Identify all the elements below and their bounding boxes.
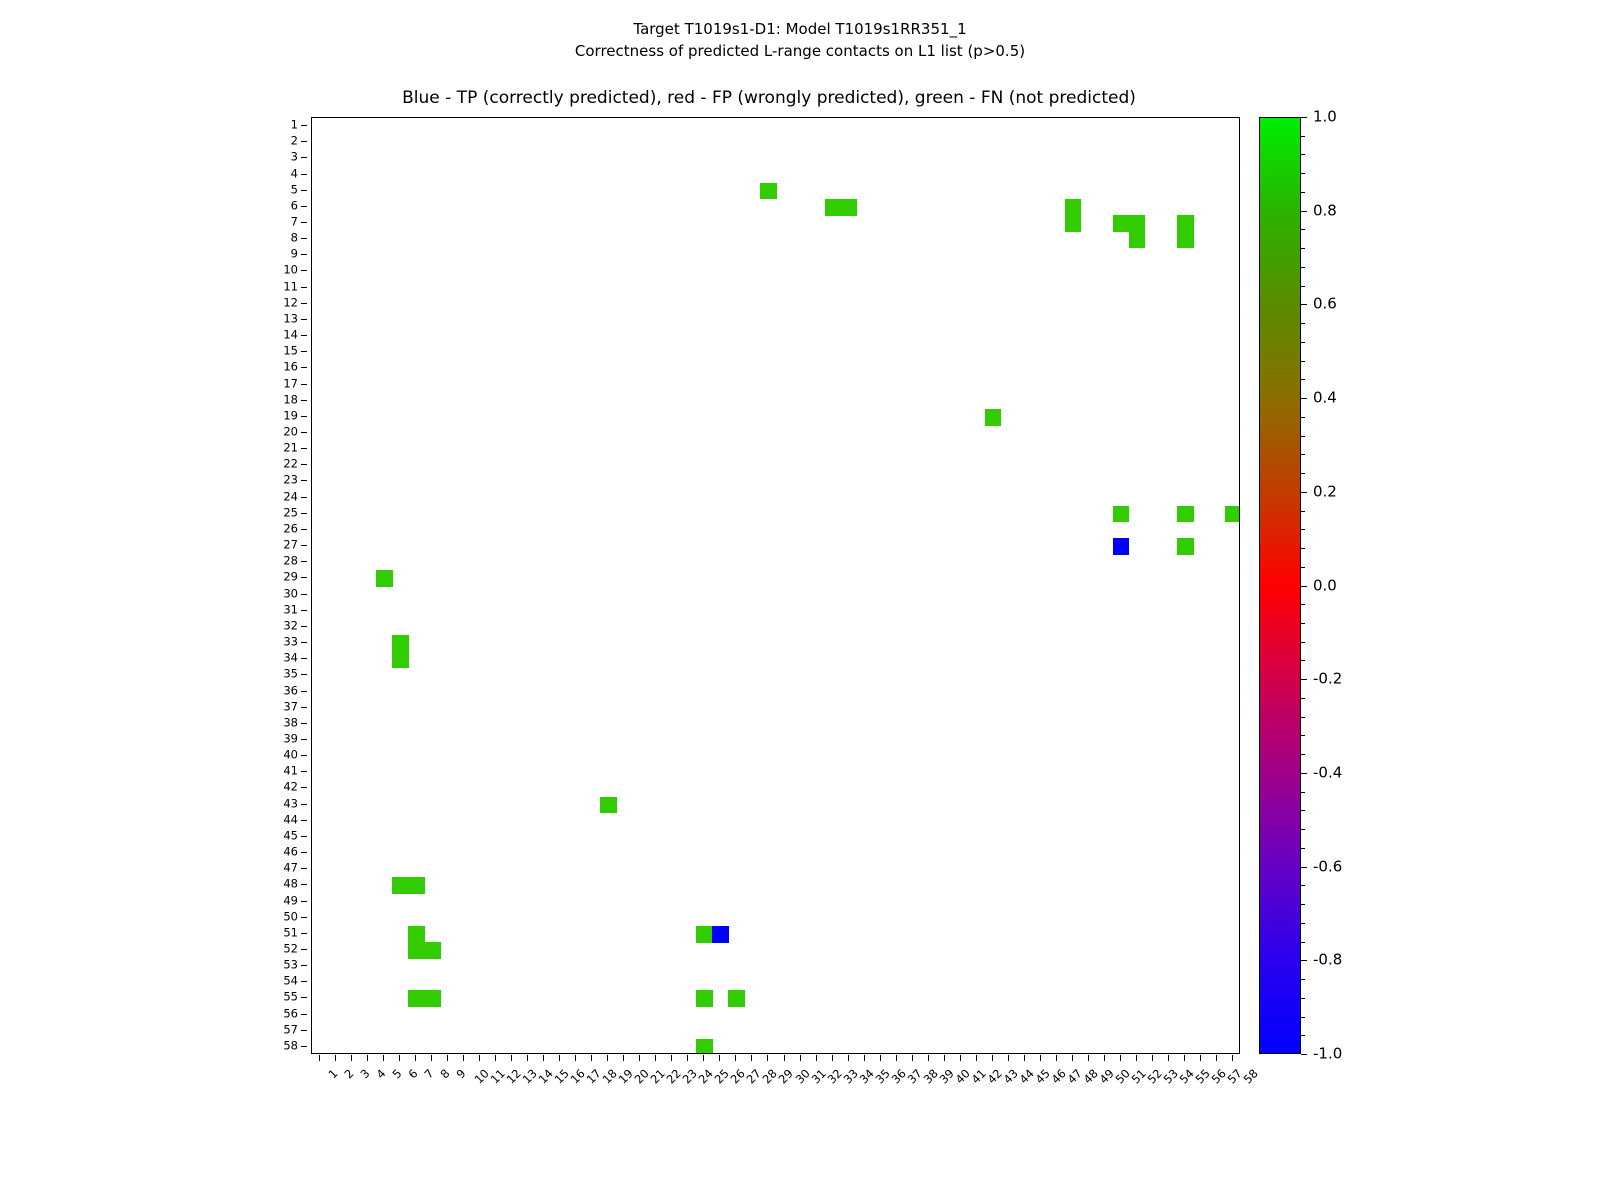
y-tick-mark <box>301 610 307 611</box>
x-tick-mark <box>944 1055 945 1061</box>
heatmap-cell <box>1177 538 1194 555</box>
colorbar: 1.00.80.60.40.20.0-0.2-0.4-0.6-0.8-1.0 <box>1259 117 1301 1054</box>
title-line-2: Correctness of predicted L-range contact… <box>0 40 1600 62</box>
x-tick-mark <box>351 1055 352 1061</box>
x-tick-mark <box>832 1055 833 1061</box>
y-tick-label: 38 <box>283 717 298 729</box>
y-tick-label: 27 <box>283 539 298 551</box>
x-tick-mark <box>335 1055 336 1061</box>
colorbar-minor-tick <box>1301 754 1305 755</box>
y-tick-mark <box>301 1030 307 1031</box>
contact-map-figure: Target T1019s1-D1: Model T1019s1RR351_1 … <box>0 0 1600 1200</box>
x-tick-mark <box>463 1055 464 1061</box>
colorbar-tick-label: 0.4 <box>1313 391 1337 406</box>
plot-area <box>311 117 1240 1054</box>
heatmap-cell <box>1129 215 1146 232</box>
y-tick-label: 14 <box>283 329 298 341</box>
x-tick-mark <box>1056 1055 1057 1061</box>
colorbar-minor-tick <box>1301 979 1305 980</box>
x-tick-mark <box>912 1055 913 1061</box>
x-tick-label: 2 <box>342 1067 356 1081</box>
x-tick-mark <box>848 1055 849 1061</box>
colorbar-tick-mark <box>1301 586 1307 587</box>
y-tick-label: 3 <box>291 152 298 164</box>
colorbar-gradient <box>1259 117 1301 1054</box>
y-tick-label: 13 <box>283 313 298 325</box>
y-tick-mark <box>301 545 307 546</box>
colorbar-tick-label: 0.6 <box>1313 297 1337 312</box>
colorbar-minor-tick <box>1301 511 1305 512</box>
y-tick-label: 45 <box>283 830 298 842</box>
colorbar-tick-label: 0.8 <box>1313 203 1337 218</box>
colorbar-tick-mark <box>1301 960 1307 961</box>
colorbar-minor-tick <box>1301 417 1305 418</box>
x-tick-mark <box>415 1055 416 1061</box>
y-tick-mark <box>301 125 307 126</box>
x-tick-mark <box>383 1055 384 1061</box>
x-tick-mark <box>1088 1055 1089 1061</box>
x-axis: 1234567891011121314151617181920212223242… <box>311 1055 1240 1175</box>
x-tick-mark <box>864 1055 865 1061</box>
x-tick-mark <box>735 1055 736 1061</box>
y-tick-mark <box>301 755 307 756</box>
colorbar-minor-tick <box>1301 192 1305 193</box>
colorbar-tick-label: -1.0 <box>1313 1047 1342 1062</box>
y-tick-label: 26 <box>283 523 298 535</box>
colorbar-minor-tick <box>1301 604 1305 605</box>
heatmap-cell <box>1113 506 1130 523</box>
colorbar-minor-tick <box>1301 248 1305 249</box>
x-tick-label: 1 <box>326 1067 340 1081</box>
x-tick-mark <box>1040 1055 1041 1061</box>
y-tick-label: 39 <box>283 733 298 745</box>
colorbar-minor-tick <box>1301 942 1305 943</box>
y-tick-mark <box>301 836 307 837</box>
heatmap-cell <box>825 199 842 216</box>
colorbar-minor-tick <box>1301 923 1305 924</box>
y-tick-mark <box>301 997 307 998</box>
y-tick-label: 41 <box>283 766 298 778</box>
y-tick-mark <box>301 400 307 401</box>
y-tick-mark <box>301 820 307 821</box>
y-tick-mark <box>301 868 307 869</box>
colorbar-tick-mark <box>1301 117 1307 118</box>
x-tick-label: 5 <box>390 1067 404 1081</box>
y-tick-mark <box>301 529 307 530</box>
colorbar-minor-tick <box>1301 342 1305 343</box>
y-tick-mark <box>301 787 307 788</box>
y-tick-label: 35 <box>283 669 298 681</box>
colorbar-minor-tick <box>1301 379 1305 380</box>
colorbar-tick-label: 1.0 <box>1313 110 1337 125</box>
y-tick-mark <box>301 642 307 643</box>
y-tick-mark <box>301 174 307 175</box>
y-tick-mark <box>301 367 307 368</box>
y-tick-mark <box>301 384 307 385</box>
heatmap-cell <box>392 877 409 894</box>
x-tick-mark <box>687 1055 688 1061</box>
x-tick-mark <box>816 1055 817 1061</box>
heatmap-cell <box>696 1039 713 1054</box>
y-tick-label: 44 <box>283 814 298 826</box>
x-tick-mark <box>399 1055 400 1061</box>
y-tick-label: 22 <box>283 459 298 471</box>
y-tick-mark <box>301 626 307 627</box>
y-tick-mark <box>301 157 307 158</box>
colorbar-tick-mark <box>1301 211 1307 212</box>
y-tick-mark <box>301 594 307 595</box>
y-tick-label: 36 <box>283 685 298 697</box>
y-tick-label: 11 <box>283 281 298 293</box>
y-tick-mark <box>301 901 307 902</box>
figure-title: Target T1019s1-D1: Model T1019s1RR351_1 … <box>0 18 1600 62</box>
heatmap-cell <box>841 199 858 216</box>
x-tick-mark <box>367 1055 368 1061</box>
y-tick-mark <box>301 190 307 191</box>
y-tick-label: 46 <box>283 846 298 858</box>
y-tick-label: 2 <box>291 135 298 147</box>
colorbar-minor-tick <box>1301 998 1305 999</box>
colorbar-minor-tick <box>1301 548 1305 549</box>
y-tick-mark <box>301 852 307 853</box>
heatmap-cell <box>712 926 729 943</box>
colorbar-minor-tick <box>1301 436 1305 437</box>
y-tick-mark <box>301 1014 307 1015</box>
heatmap-cell <box>1065 199 1082 216</box>
y-tick-mark <box>301 319 307 320</box>
x-tick-mark <box>575 1055 576 1061</box>
x-tick-mark <box>607 1055 608 1061</box>
y-tick-mark <box>301 933 307 934</box>
y-tick-label: 57 <box>283 1024 298 1036</box>
colorbar-minor-tick <box>1301 642 1305 643</box>
x-tick-mark <box>1136 1055 1137 1061</box>
y-tick-mark <box>301 884 307 885</box>
colorbar-tick-label: -0.8 <box>1313 953 1342 968</box>
y-tick-label: 28 <box>283 556 298 568</box>
x-tick-mark <box>319 1055 320 1061</box>
colorbar-minor-tick <box>1301 529 1305 530</box>
x-tick-mark <box>767 1055 768 1061</box>
y-tick-mark <box>301 222 307 223</box>
colorbar-minor-tick <box>1301 229 1305 230</box>
y-tick-mark <box>301 674 307 675</box>
y-tick-label: 55 <box>283 992 298 1004</box>
y-tick-label: 8 <box>291 232 298 244</box>
y-tick-label: 4 <box>291 168 298 180</box>
x-tick-label: 6 <box>406 1067 420 1081</box>
heatmap-cell <box>392 635 409 652</box>
y-tick-mark <box>301 303 307 304</box>
x-tick-label: 58 <box>1241 1067 1260 1086</box>
x-tick-mark <box>1216 1055 1217 1061</box>
y-tick-mark <box>301 416 307 417</box>
x-tick-mark <box>976 1055 977 1061</box>
colorbar-minor-tick <box>1301 735 1305 736</box>
y-tick-mark <box>301 723 307 724</box>
y-tick-label: 52 <box>283 943 298 955</box>
heatmap-cell <box>1177 231 1194 248</box>
y-tick-label: 56 <box>283 1008 298 1020</box>
y-tick-mark <box>301 804 307 805</box>
y-tick-label: 15 <box>283 346 298 358</box>
heatmap-cell <box>696 926 713 943</box>
x-tick-mark <box>1200 1055 1201 1061</box>
y-tick-label: 20 <box>283 426 298 438</box>
y-tick-label: 51 <box>283 927 298 939</box>
x-tick-mark <box>511 1055 512 1061</box>
y-tick-mark <box>301 561 307 562</box>
y-tick-label: 1 <box>291 119 298 131</box>
y-tick-mark <box>301 480 307 481</box>
y-tick-mark <box>301 707 307 708</box>
x-tick-mark <box>960 1055 961 1061</box>
x-tick-mark <box>1024 1055 1025 1061</box>
x-tick-mark <box>1120 1055 1121 1061</box>
colorbar-minor-tick <box>1301 454 1305 455</box>
y-tick-label: 29 <box>283 572 298 584</box>
x-tick-mark <box>1072 1055 1073 1061</box>
x-tick-mark <box>1008 1055 1009 1061</box>
y-tick-mark <box>301 658 307 659</box>
y-tick-mark <box>301 917 307 918</box>
y-tick-mark <box>301 432 307 433</box>
y-tick-label: 6 <box>291 200 298 212</box>
x-tick-mark <box>784 1055 785 1061</box>
x-tick-mark <box>559 1055 560 1061</box>
y-tick-label: 24 <box>283 491 298 503</box>
heatmap-cell <box>985 409 1002 426</box>
colorbar-minor-tick <box>1301 904 1305 905</box>
colorbar-minor-tick <box>1301 361 1305 362</box>
x-tick-mark <box>623 1055 624 1061</box>
x-tick-mark <box>1152 1055 1153 1061</box>
heatmap-cell <box>408 926 425 943</box>
y-tick-mark <box>301 141 307 142</box>
x-tick-mark <box>527 1055 528 1061</box>
heatmap-cell <box>392 651 409 668</box>
x-tick-mark <box>671 1055 672 1061</box>
y-tick-label: 53 <box>283 959 298 971</box>
y-tick-label: 50 <box>283 911 298 923</box>
x-tick-mark <box>800 1055 801 1061</box>
colorbar-minor-tick <box>1301 1035 1305 1036</box>
y-tick-mark <box>301 464 307 465</box>
colorbar-tick-label: -0.2 <box>1313 672 1342 687</box>
y-tick-label: 25 <box>283 507 298 519</box>
heatmap-cell <box>1177 215 1194 232</box>
x-tick-mark <box>992 1055 993 1061</box>
y-tick-label: 58 <box>283 1040 298 1052</box>
heatmap-cell <box>728 990 745 1007</box>
y-tick-label: 47 <box>283 862 298 874</box>
heatmap-cell <box>600 797 617 814</box>
colorbar-minor-tick <box>1301 623 1305 624</box>
x-tick-mark <box>447 1055 448 1061</box>
colorbar-minor-tick <box>1301 492 1305 493</box>
y-tick-mark <box>301 497 307 498</box>
colorbar-minor-tick <box>1301 1017 1305 1018</box>
y-tick-label: 9 <box>291 249 298 261</box>
colorbar-minor-tick <box>1301 323 1305 324</box>
colorbar-minor-tick <box>1301 698 1305 699</box>
y-tick-mark <box>301 981 307 982</box>
colorbar-minor-tick <box>1301 679 1305 680</box>
x-tick-mark <box>495 1055 496 1061</box>
colorbar-minor-tick <box>1301 473 1305 474</box>
x-tick-mark <box>591 1055 592 1061</box>
x-tick-mark <box>751 1055 752 1061</box>
x-tick-mark <box>655 1055 656 1061</box>
x-tick-label: 8 <box>438 1067 452 1081</box>
y-tick-mark <box>301 270 307 271</box>
y-tick-label: 30 <box>283 588 298 600</box>
heatmap-cell <box>1177 506 1194 523</box>
colorbar-tick-label: 0.0 <box>1313 578 1337 593</box>
x-tick-mark <box>719 1055 720 1061</box>
y-tick-label: 23 <box>283 475 298 487</box>
y-tick-label: 43 <box>283 798 298 810</box>
colorbar-tick-label: 0.2 <box>1313 484 1337 499</box>
colorbar-tick-mark <box>1301 1054 1307 1055</box>
colorbar-minor-tick <box>1301 885 1305 886</box>
x-tick-mark <box>431 1055 432 1061</box>
y-tick-label: 48 <box>283 879 298 891</box>
colorbar-minor-tick <box>1301 848 1305 849</box>
x-tick-mark <box>1168 1055 1169 1061</box>
heatmap-cell <box>424 942 441 959</box>
heatmap-cells <box>312 118 1239 1053</box>
heatmap-cell <box>1129 231 1146 248</box>
y-tick-mark <box>301 949 307 950</box>
y-tick-label: 16 <box>283 362 298 374</box>
y-tick-label: 17 <box>283 378 298 390</box>
heatmap-cell <box>1113 215 1130 232</box>
colorbar-minor-tick <box>1301 567 1305 568</box>
y-tick-mark <box>301 351 307 352</box>
heatmap-cell <box>1065 215 1082 232</box>
x-tick-mark <box>543 1055 544 1061</box>
colorbar-tick-label: -0.4 <box>1313 765 1342 780</box>
title-line-1: Target T1019s1-D1: Model T1019s1RR351_1 <box>0 18 1600 40</box>
heatmap-cell <box>760 183 777 200</box>
y-tick-label: 18 <box>283 394 298 406</box>
colorbar-minor-tick <box>1301 267 1305 268</box>
x-tick-label: 4 <box>374 1067 388 1081</box>
x-tick-mark <box>880 1055 881 1061</box>
y-tick-mark <box>301 771 307 772</box>
y-tick-label: 10 <box>283 265 298 277</box>
x-tick-label: 3 <box>358 1067 372 1081</box>
y-tick-mark <box>301 254 307 255</box>
colorbar-tick-mark <box>1301 867 1307 868</box>
y-tick-mark <box>301 691 307 692</box>
colorbar-minor-tick <box>1301 810 1305 811</box>
colorbar-minor-tick <box>1301 792 1305 793</box>
y-tick-label: 21 <box>283 442 298 454</box>
y-tick-mark <box>301 577 307 578</box>
x-tick-mark <box>1184 1055 1185 1061</box>
heatmap-cell <box>408 990 425 1007</box>
y-tick-label: 19 <box>283 410 298 422</box>
x-tick-mark <box>639 1055 640 1061</box>
colorbar-tick-mark <box>1301 304 1307 305</box>
y-tick-label: 31 <box>283 604 298 616</box>
y-tick-label: 7 <box>291 216 298 228</box>
y-tick-mark <box>301 287 307 288</box>
y-tick-label: 49 <box>283 895 298 907</box>
colorbar-minor-tick <box>1301 829 1305 830</box>
colorbar-minor-tick <box>1301 717 1305 718</box>
y-tick-mark <box>301 739 307 740</box>
x-tick-mark <box>1232 1055 1233 1061</box>
y-tick-label: 12 <box>283 297 298 309</box>
colorbar-minor-tick <box>1301 154 1305 155</box>
heatmap-cell <box>696 990 713 1007</box>
y-tick-mark <box>301 448 307 449</box>
heatmap-cell <box>424 990 441 1007</box>
y-tick-label: 42 <box>283 782 298 794</box>
y-tick-label: 40 <box>283 749 298 761</box>
y-tick-mark <box>301 965 307 966</box>
x-tick-label: 7 <box>422 1067 436 1081</box>
y-tick-mark <box>301 335 307 336</box>
x-tick-label: 9 <box>454 1067 468 1081</box>
y-tick-label: 5 <box>291 184 298 196</box>
heatmap-cell <box>408 877 425 894</box>
x-tick-mark <box>896 1055 897 1061</box>
y-tick-label: 33 <box>283 636 298 648</box>
y-axis: 1234567891011121314151617181920212223242… <box>255 117 307 1054</box>
y-tick-mark <box>301 1046 307 1047</box>
y-tick-label: 37 <box>283 701 298 713</box>
colorbar-tick-mark <box>1301 398 1307 399</box>
y-tick-label: 32 <box>283 620 298 632</box>
colorbar-minor-tick <box>1301 773 1305 774</box>
x-tick-mark <box>703 1055 704 1061</box>
y-tick-mark <box>301 513 307 514</box>
colorbar-tick-label: -0.6 <box>1313 859 1342 874</box>
heatmap-cell <box>1113 538 1130 555</box>
heatmap-cell <box>376 570 393 587</box>
colorbar-minor-tick <box>1301 173 1305 174</box>
y-tick-label: 34 <box>283 652 298 664</box>
colorbar-minor-tick <box>1301 136 1305 137</box>
figure-subtitle: Blue - TP (correctly predicted), red - F… <box>0 88 1538 108</box>
x-tick-mark <box>479 1055 480 1061</box>
colorbar-minor-tick <box>1301 660 1305 661</box>
x-tick-mark <box>928 1055 929 1061</box>
y-tick-mark <box>301 206 307 207</box>
y-tick-mark <box>301 238 307 239</box>
x-tick-mark <box>1104 1055 1105 1061</box>
heatmap-cell <box>1225 506 1240 523</box>
heatmap-cell <box>408 942 425 959</box>
colorbar-minor-tick <box>1301 286 1305 287</box>
y-tick-label: 54 <box>283 976 298 988</box>
